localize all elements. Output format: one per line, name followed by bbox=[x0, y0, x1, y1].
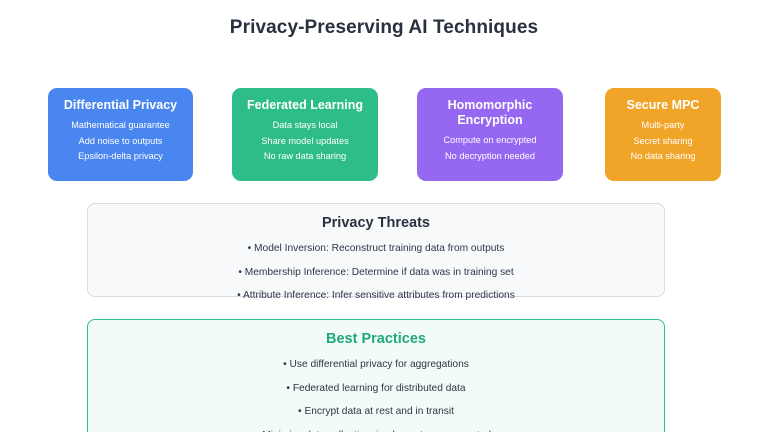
practice-list-item: • Federated learning for distributed dat… bbox=[88, 377, 664, 401]
page-title: Privacy-Preserving AI Techniques bbox=[0, 17, 768, 39]
card-detail-line: Mathematical guarantee bbox=[48, 118, 193, 134]
card-title: Federated Learning bbox=[232, 98, 378, 113]
practice-list-item: • Use differential privacy for aggregati… bbox=[88, 353, 664, 377]
practice-list-item: • Encrypt data at rest and in transit bbox=[88, 400, 664, 424]
threat-list-item: • Membership Inference: Determine if dat… bbox=[88, 261, 664, 285]
card-title: Secure MPC bbox=[605, 98, 721, 113]
threat-list-item: • Attribute Inference: Infer sensitive a… bbox=[88, 284, 664, 308]
threat-list-item: • Model Inversion: Reconstruct training … bbox=[88, 237, 664, 261]
panel-title: Privacy Threats bbox=[88, 215, 664, 231]
card-detail-line: Epsilon-delta privacy bbox=[48, 149, 193, 165]
card-detail-line: Data stays local bbox=[232, 118, 378, 134]
card-detail-line: Multi-party bbox=[605, 118, 721, 134]
card-title: Homomorphic Encryption bbox=[417, 98, 563, 128]
card-detail-line: Add noise to outputs bbox=[48, 134, 193, 150]
card-detail-line: No raw data sharing bbox=[232, 149, 378, 165]
card-title: Differential Privacy bbox=[48, 98, 193, 113]
card-detail-line: Compute on encrypted bbox=[417, 133, 563, 149]
card-detail-line: No data sharing bbox=[605, 149, 721, 165]
card-detail-line: Share model updates bbox=[232, 134, 378, 150]
technique-card-homomorphic-encryption[interactable]: Homomorphic Encryption Compute on encryp… bbox=[417, 88, 563, 181]
panel-title: Best Practices bbox=[88, 331, 664, 347]
technique-card-federated-learning[interactable]: Federated Learning Data stays local Shar… bbox=[232, 88, 378, 181]
technique-card-row: Differential Privacy Mathematical guaran… bbox=[0, 88, 768, 181]
best-practices-panel: Best Practices • Use differential privac… bbox=[87, 319, 665, 432]
privacy-threats-panel: Privacy Threats • Model Inversion: Recon… bbox=[87, 203, 665, 297]
practice-list-item: • Minimize data collection, implement ac… bbox=[88, 424, 664, 432]
technique-card-secure-mpc[interactable]: Secure MPC Multi-party Secret sharing No… bbox=[605, 88, 721, 181]
technique-card-differential-privacy[interactable]: Differential Privacy Mathematical guaran… bbox=[48, 88, 193, 181]
card-detail-line: No decryption needed bbox=[417, 149, 563, 165]
card-detail-line: Secret sharing bbox=[605, 134, 721, 150]
